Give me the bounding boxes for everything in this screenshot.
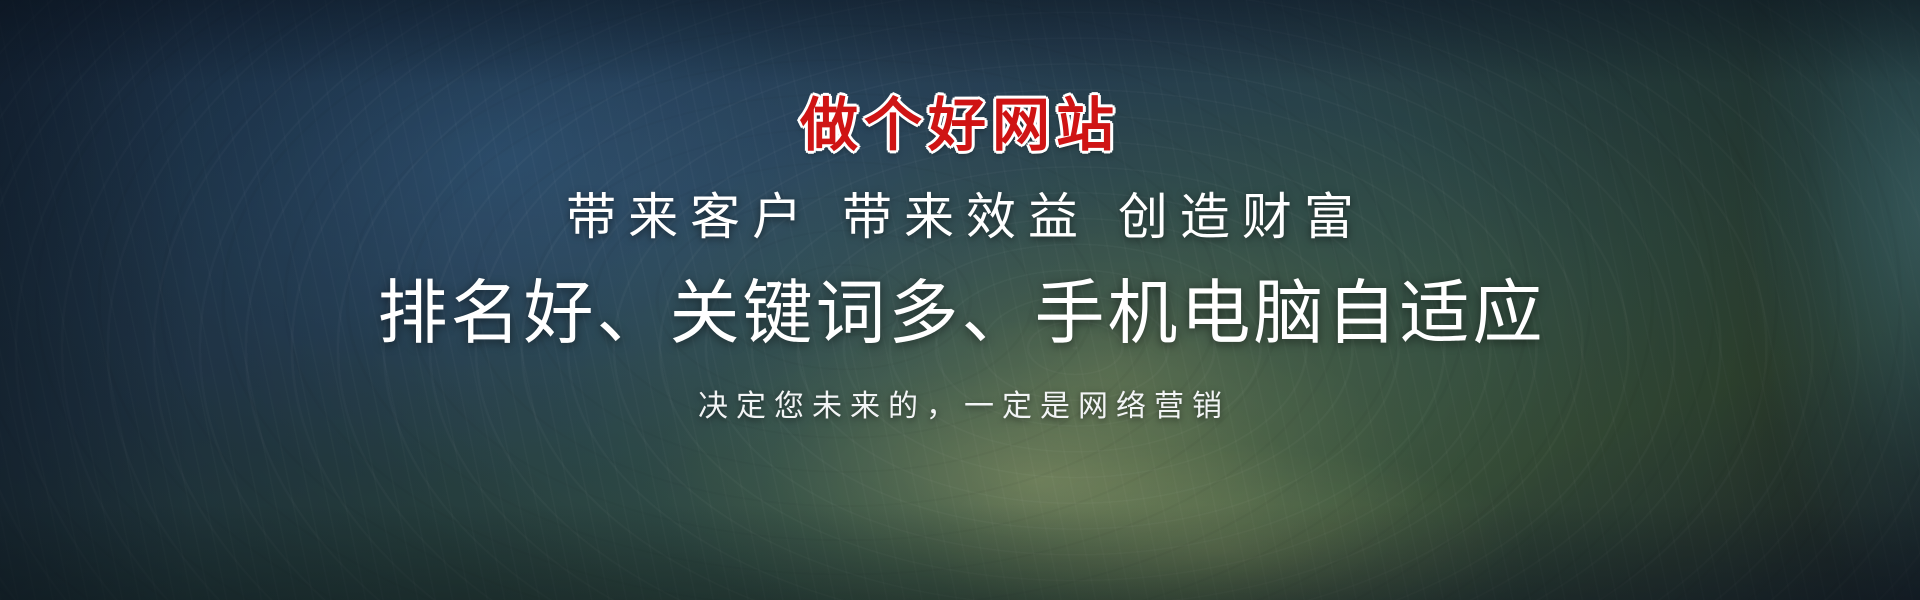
promo-banner: 做个好网站 带来客户 带来效益 创造财富 排名好、关键词多、手机电脑自适应 决定… [0,0,1920,600]
banner-tagline: 带来客户 带来效益 创造财富 [554,192,1366,242]
banner-subline: 决定您未来的，一定是网络营销 [690,392,1230,422]
banner-feature-line: 排名好、关键词多、手机电脑自适应 [375,278,1546,348]
banner-headline: 做个好网站 [800,96,1120,154]
banner-content: 做个好网站 带来客户 带来效益 创造财富 排名好、关键词多、手机电脑自适应 决定… [0,0,1920,600]
